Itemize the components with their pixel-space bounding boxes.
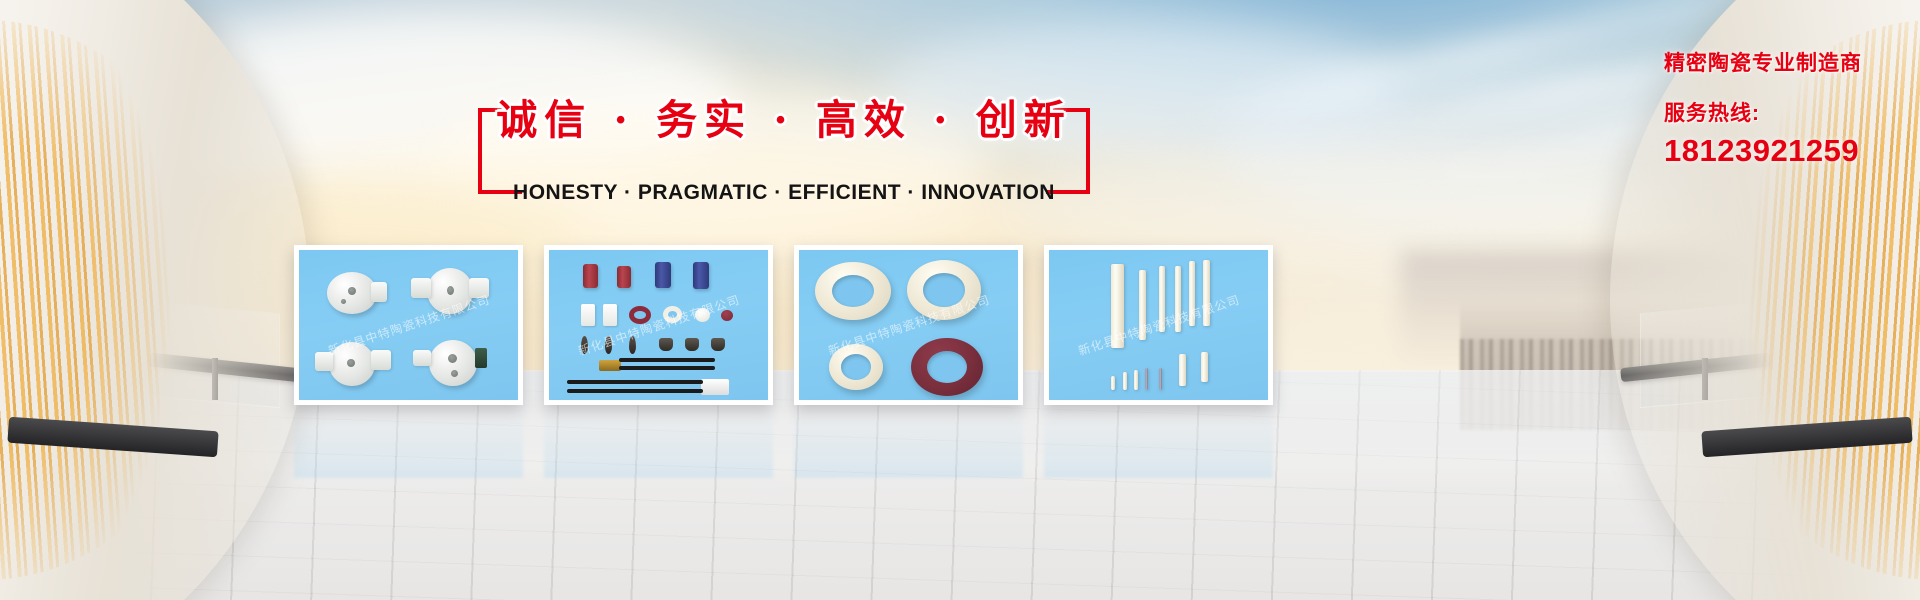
socket-tab — [413, 350, 431, 366]
ceramic-pin — [1123, 372, 1127, 390]
contact-block: 精密陶瓷专业制造商 服务热线: 18123921259 — [1664, 50, 1862, 169]
ceramic-ring-maroon — [911, 338, 983, 396]
ceramic-ring-large — [907, 260, 981, 320]
socket-contact-pin — [475, 348, 487, 368]
ceramic-socket — [329, 342, 375, 386]
metal-clip — [685, 338, 699, 351]
wire-lead — [619, 366, 715, 370]
wire-connector-white — [701, 379, 729, 395]
ceramic-rod — [1139, 270, 1146, 340]
panel-reflection — [1044, 410, 1273, 478]
ceramic-ring-large — [815, 262, 891, 320]
panel-canvas: 新化县中特陶瓷科技有限公司 — [799, 250, 1018, 400]
product-panel-ceramic-sockets[interactable]: 新化县中特陶瓷科技有限公司 — [294, 245, 523, 405]
ceramic-blade — [605, 336, 612, 354]
metal-clip — [659, 338, 673, 351]
socket-tab — [411, 278, 431, 298]
ceramic-tube-blue — [655, 262, 671, 288]
ceramic-plate — [603, 304, 617, 326]
panel-canvas: 新化县中特陶瓷科技有限公司 — [1049, 250, 1268, 400]
ceramic-ring-white — [663, 306, 682, 323]
ceramic-socket — [327, 272, 377, 314]
promotional-banner: 诚信 · 务实 · 高效 · 创新 HONESTY · PRAGMATIC · … — [0, 0, 1920, 600]
ceramic-tube-red — [617, 266, 631, 288]
socket-tab — [371, 282, 387, 302]
ceramic-pin — [1111, 376, 1115, 390]
ceramic-blade — [581, 336, 588, 354]
ceramic-rod — [1175, 266, 1181, 332]
ceramic-tube-blue — [693, 262, 709, 289]
panel-reflection — [544, 410, 773, 478]
wire-connector-brass — [599, 360, 621, 371]
railing-post — [1702, 358, 1708, 400]
panel-reflection — [294, 410, 523, 478]
ceramic-socket — [427, 268, 473, 314]
ceramic-rod — [1203, 260, 1210, 326]
metal-clip — [711, 338, 725, 351]
manufacturer-tagline: 精密陶瓷专业制造商 — [1664, 50, 1862, 77]
ceramic-pin — [1134, 370, 1138, 390]
ceramic-pin-dark — [1159, 368, 1162, 390]
ceramic-socket — [429, 340, 477, 386]
product-panel-ceramic-rods[interactable]: 新化县中特陶瓷科技有限公司 — [1044, 245, 1273, 405]
ceramic-tube-red — [583, 264, 598, 288]
ceramic-pin-dark — [1145, 368, 1148, 390]
slogan-chinese: 诚信 · 务实 · 高效 · 创新 — [478, 86, 1090, 146]
socket-tab — [469, 278, 489, 298]
wire-lead — [619, 358, 715, 362]
slogan-block: 诚信 · 务实 · 高效 · 创新 HONESTY · PRAGMATIC · … — [478, 108, 1090, 194]
ceramic-plate — [581, 304, 595, 326]
hotline-label: 服务热线: — [1664, 97, 1862, 127]
ceramic-rod — [1159, 266, 1165, 332]
product-panel-row: 新化县中特陶瓷科技有限公司 — [294, 245, 1294, 410]
socket-tab — [371, 350, 391, 370]
panel-reflection — [794, 410, 1023, 478]
ceramic-rod-short — [1201, 352, 1208, 382]
ceramic-ring-maroon — [629, 306, 651, 324]
product-panel-ceramic-rings[interactable]: 新化县中特陶瓷科技有限公司 — [794, 245, 1023, 405]
ceramic-rod — [1189, 261, 1195, 326]
panel-canvas: 新化县中特陶瓷科技有限公司 — [549, 250, 768, 400]
hotline-number: 18123921259 — [1664, 133, 1862, 169]
railing-post — [212, 358, 218, 400]
wire-lead — [567, 389, 703, 393]
slogan-english: HONESTY · PRAGMATIC · EFFICIENT · INNOVA… — [478, 181, 1090, 205]
panel-canvas: 新化县中特陶瓷科技有限公司 — [299, 250, 518, 400]
ceramic-disc-white — [695, 308, 710, 322]
ceramic-ring-small — [829, 344, 883, 390]
wire-lead — [567, 380, 703, 384]
socket-tab — [315, 352, 333, 371]
ceramic-disc-maroon — [721, 310, 733, 321]
ceramic-rod — [1111, 264, 1124, 348]
ceramic-blade — [629, 336, 636, 354]
product-panel-ceramic-tubes[interactable]: 新化县中特陶瓷科技有限公司 — [544, 245, 773, 405]
ceramic-rod-short — [1179, 354, 1186, 386]
